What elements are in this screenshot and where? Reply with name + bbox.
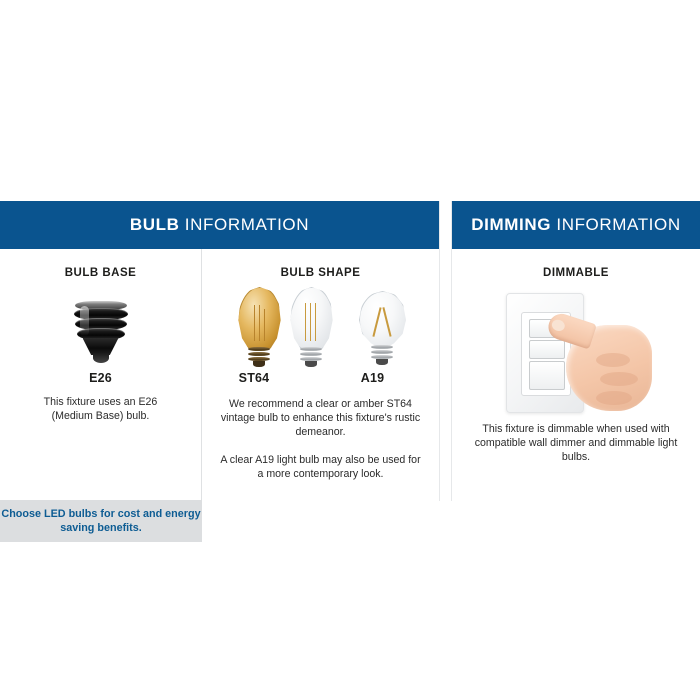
led-tip-text: Choose LED bulbs for cost and energy sav… — [0, 507, 202, 535]
clear-st64-base-ring — [300, 352, 322, 356]
bulb-shape-column: BULB SHAPE — [202, 249, 439, 501]
bulb-shape-title: BULB SHAPE — [202, 267, 439, 279]
clear-st64-glass — [289, 287, 335, 351]
dimmer-switch-artwork — [452, 289, 700, 414]
hand-index-finger — [545, 311, 597, 350]
bulb-information-header-rest: INFORMATION — [179, 215, 309, 234]
e26-highlight — [80, 306, 89, 336]
clear-st64-base-ring — [300, 347, 322, 351]
amber-st64-filament — [259, 305, 261, 341]
e26-screw-base-icon — [72, 301, 130, 365]
bulb-columns: BULB BASE E26 This fixtu — [0, 249, 439, 501]
hand-fingernail — [550, 318, 566, 332]
bulb-shape-paragraph-1: We recommend a clear or amber ST64 vinta… — [214, 397, 427, 439]
clear-st64-filament — [315, 303, 317, 341]
hand-knuckle — [596, 391, 632, 405]
e26-base-artwork — [0, 287, 201, 365]
amber-st64-filament — [254, 305, 256, 341]
clear-st64-filament — [305, 303, 307, 341]
led-tip-callout: Choose LED bulbs for cost and energy sav… — [0, 500, 202, 542]
dimming-information-header-bold: DIMMING — [471, 215, 551, 234]
amber-st64-base-ring — [248, 347, 270, 351]
hand-icon — [548, 311, 652, 413]
clear-a19-base — [371, 345, 393, 363]
amber-st64-base-ring — [248, 352, 270, 356]
bulb-shape-paragraph-2: A clear A19 light bulb may also be used … — [218, 453, 423, 481]
dimming-information-panel: DIMMING INFORMATION DIMMABLE — [451, 201, 700, 501]
bulb-information-header-title: BULB INFORMATION — [130, 215, 309, 235]
dimmable-title: DIMMABLE — [452, 267, 700, 279]
bulb-information-header: BULB INFORMATION — [0, 201, 439, 249]
amber-st64-bulb-icon — [237, 287, 281, 369]
clear-a19-base-tip — [376, 359, 388, 365]
bulb-shape-labels: ST64 A19 — [202, 371, 439, 385]
product-spec-infographic: BULB INFORMATION BULB BASE — [0, 0, 700, 700]
bulb-base-column: BULB BASE E26 This fixtu — [0, 249, 202, 501]
bulb-information-panel: BULB INFORMATION BULB BASE — [0, 201, 440, 501]
amber-st64-filament — [264, 309, 266, 341]
wall-dimmer-switch-icon — [500, 289, 652, 414]
bulb-information-body: BULB BASE E26 This fixtu — [0, 249, 439, 501]
hand-knuckle — [600, 372, 638, 386]
clear-a19-base-ring — [371, 350, 393, 354]
bulb-base-description: This fixture uses an E26 (Medium Base) b… — [22, 395, 179, 423]
clear-st64-base-tip — [305, 361, 317, 367]
dimming-information-header-title: DIMMING INFORMATION — [471, 215, 680, 235]
hand-knuckle — [596, 353, 630, 367]
dimming-information-header: DIMMING INFORMATION — [452, 201, 700, 249]
clear-a19-base-ring — [371, 345, 393, 349]
dimming-information-body: DIMMABLE — [452, 267, 700, 519]
bulb-base-spec-label: E26 — [0, 371, 201, 385]
e26-tip — [93, 353, 109, 363]
bulb-base-title: BULB BASE — [0, 267, 201, 279]
amber-st64-base — [248, 347, 270, 365]
bulb-shape-label-a19: A19 — [306, 371, 439, 385]
dimming-description: This fixture is dimmable when used with … — [468, 422, 684, 464]
dimming-information-header-rest: INFORMATION — [551, 215, 681, 234]
clear-a19-glass — [359, 291, 407, 349]
bulb-shape-label-st64: ST64 — [202, 371, 306, 385]
clear-a19-bulb-icon — [359, 291, 405, 369]
clear-st64-base — [300, 347, 322, 365]
clear-st64-filament — [310, 303, 312, 341]
bulb-information-header-bold: BULB — [130, 215, 180, 234]
amber-st64-base-tip — [253, 361, 265, 367]
clear-st64-bulb-icon — [289, 287, 333, 369]
bulb-shape-artwork — [202, 283, 439, 369]
